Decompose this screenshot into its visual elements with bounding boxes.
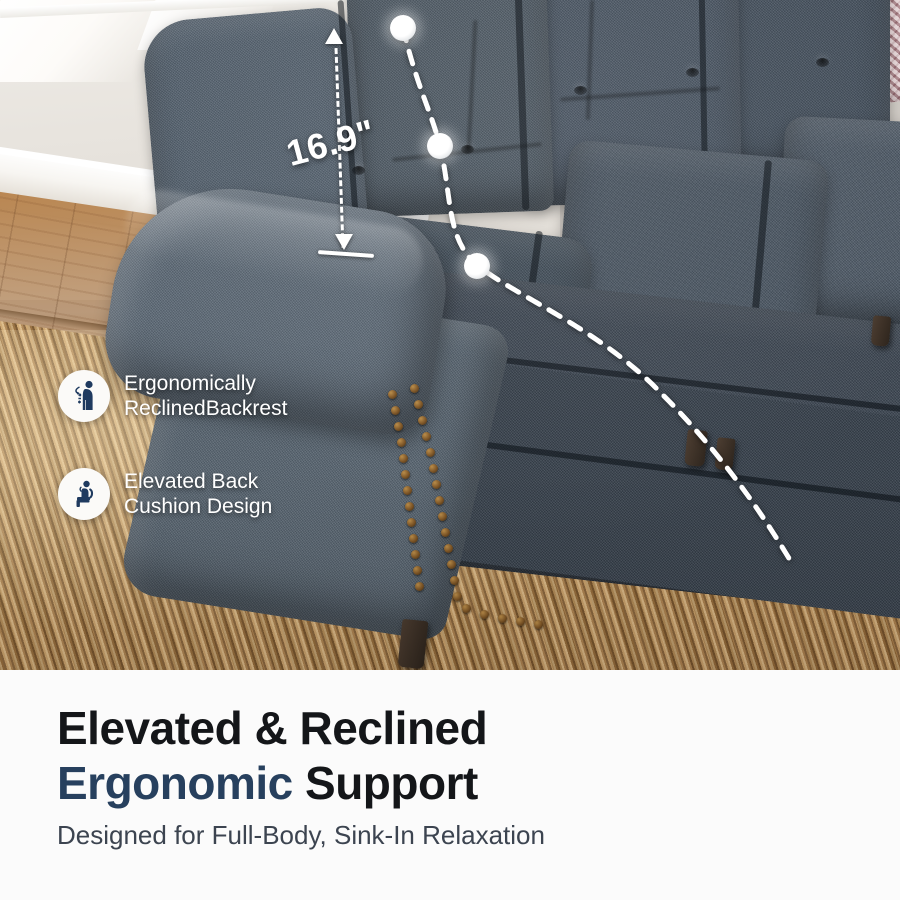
heading-line-2: Ergonomic Support xyxy=(57,757,478,811)
product-photo: 16.9" Ergonomically xyxy=(0,0,900,670)
product-infographic: 16.9" Ergonomically xyxy=(0,0,900,900)
ergonomic-posture-glyph xyxy=(69,380,99,412)
posture-curve-path xyxy=(403,28,790,560)
curve-dot-2 xyxy=(427,133,453,159)
ergonomic-posture-icon xyxy=(58,370,110,422)
feature-1-line2: ReclinedBackrest xyxy=(124,396,287,421)
feature-item-1: Ergonomically ReclinedBackrest xyxy=(58,370,287,422)
feature-1-text: Ergonomically ReclinedBackrest xyxy=(124,371,287,421)
curve-dot-3 xyxy=(464,253,490,279)
feature-1-line1: Ergonomically xyxy=(124,372,256,395)
seated-person-glyph xyxy=(69,479,99,509)
heading-line-2-rest: Support xyxy=(293,757,478,809)
heading-accent-word: Ergonomic xyxy=(57,757,293,809)
posture-curve xyxy=(0,0,900,670)
feature-2-line1: Elevated Back xyxy=(124,470,258,493)
feature-item-2: Elevated Back Cushion Design xyxy=(58,468,272,520)
feature-2-text: Elevated Back Cushion Design xyxy=(124,469,272,519)
feature-2-line2: Cushion Design xyxy=(124,494,272,519)
heading-line-1: Elevated & Reclined xyxy=(57,702,487,756)
subheading: Designed for Full-Body, Sink-In Relaxati… xyxy=(57,820,545,851)
curve-dot-1 xyxy=(390,15,416,41)
seated-person-icon xyxy=(58,468,110,520)
